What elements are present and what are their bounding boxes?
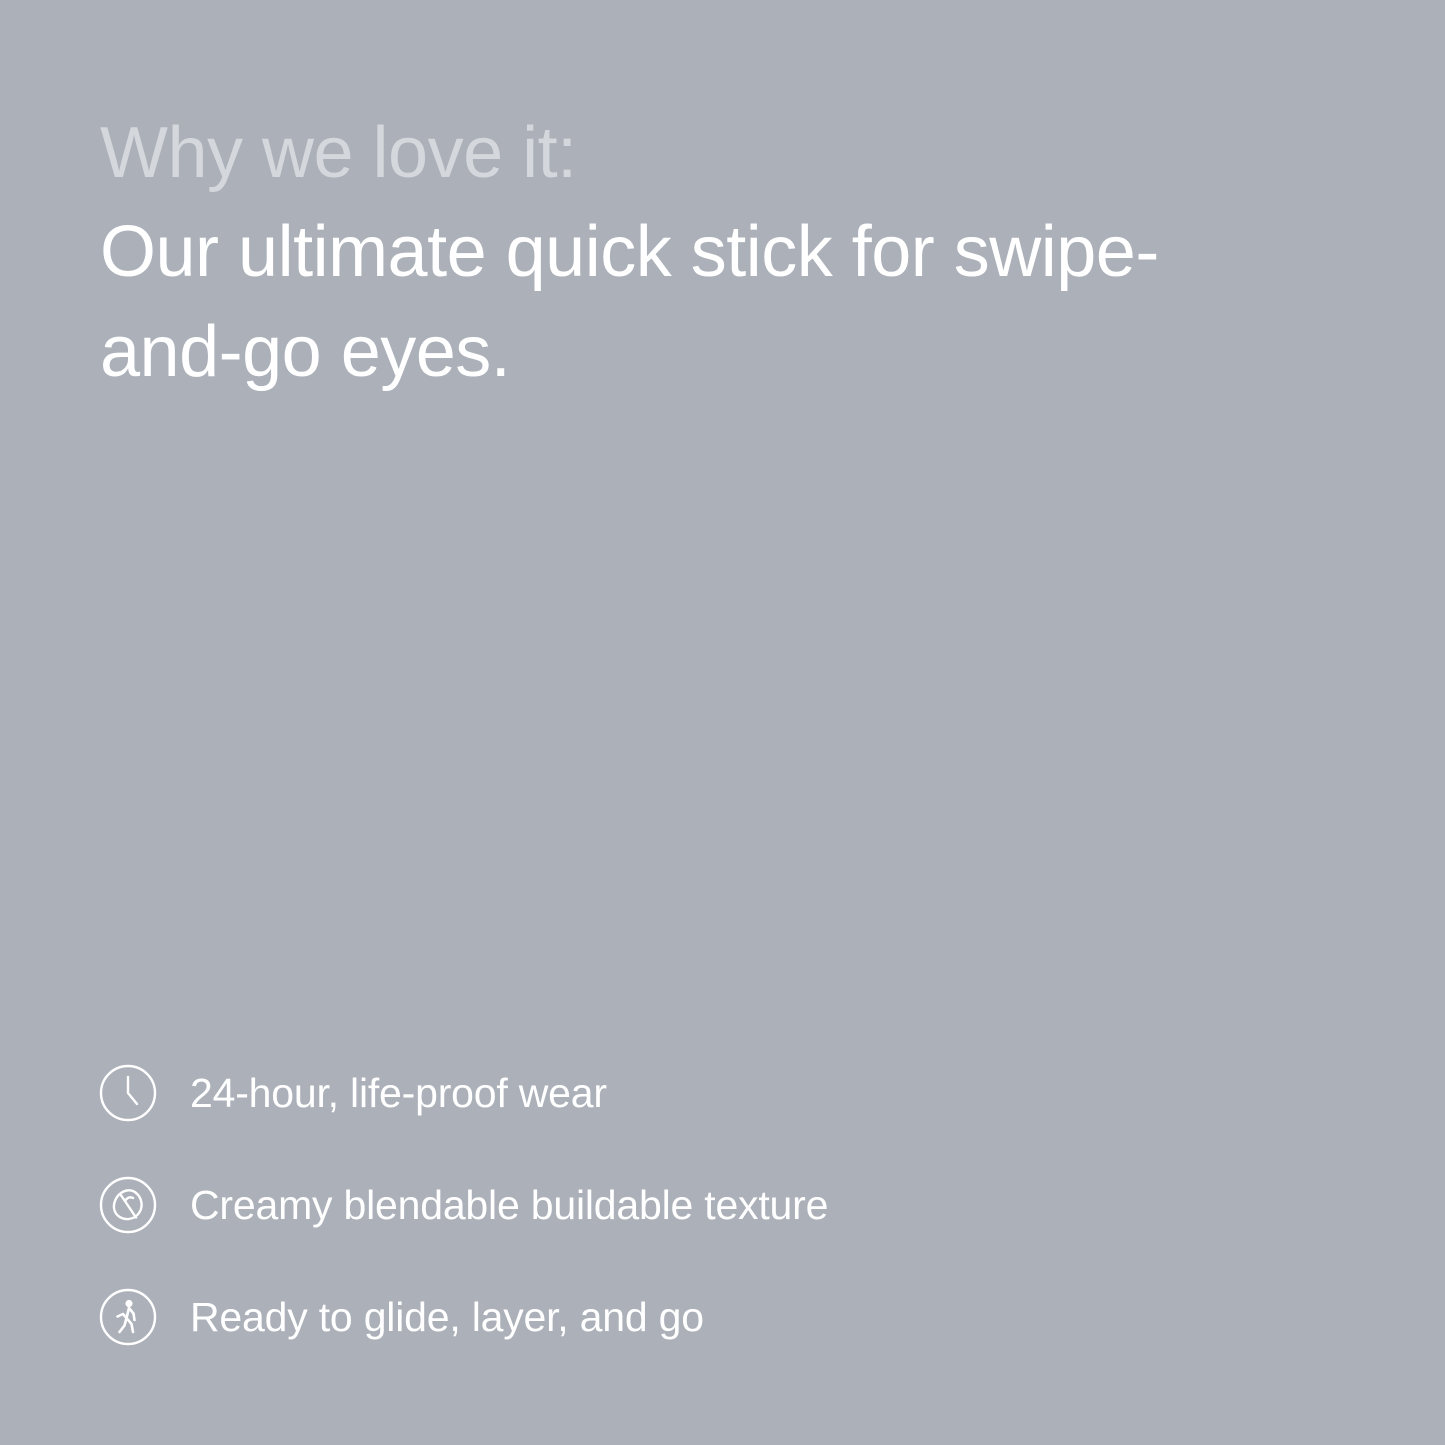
page-title: Our ultimate quick stick for swipe-and-g…: [100, 202, 1300, 402]
list-item: Ready to glide, layer, and go: [98, 1286, 1198, 1348]
product-benefits-card: Why we love it: Our ultimate quick stick…: [0, 0, 1445, 1445]
walking-person-icon: [98, 1287, 158, 1347]
list-item-label: 24-hour, life-proof wear: [190, 1069, 607, 1117]
list-item-label: Ready to glide, layer, and go: [190, 1293, 704, 1341]
eyebrow-label: Why we love it:: [100, 104, 1330, 202]
header-block: Why we love it: Our ultimate quick stick…: [100, 104, 1330, 402]
list-item: Creamy blendable buildable texture: [98, 1174, 1198, 1236]
list-item-label: Creamy blendable buildable texture: [190, 1181, 828, 1229]
clock-icon: [98, 1063, 158, 1123]
feature-list: 24-hour, life-proof wear Creamy blendabl…: [98, 1062, 1198, 1348]
list-item: 24-hour, life-proof wear: [98, 1062, 1198, 1124]
droplet-texture-icon: [98, 1175, 158, 1235]
